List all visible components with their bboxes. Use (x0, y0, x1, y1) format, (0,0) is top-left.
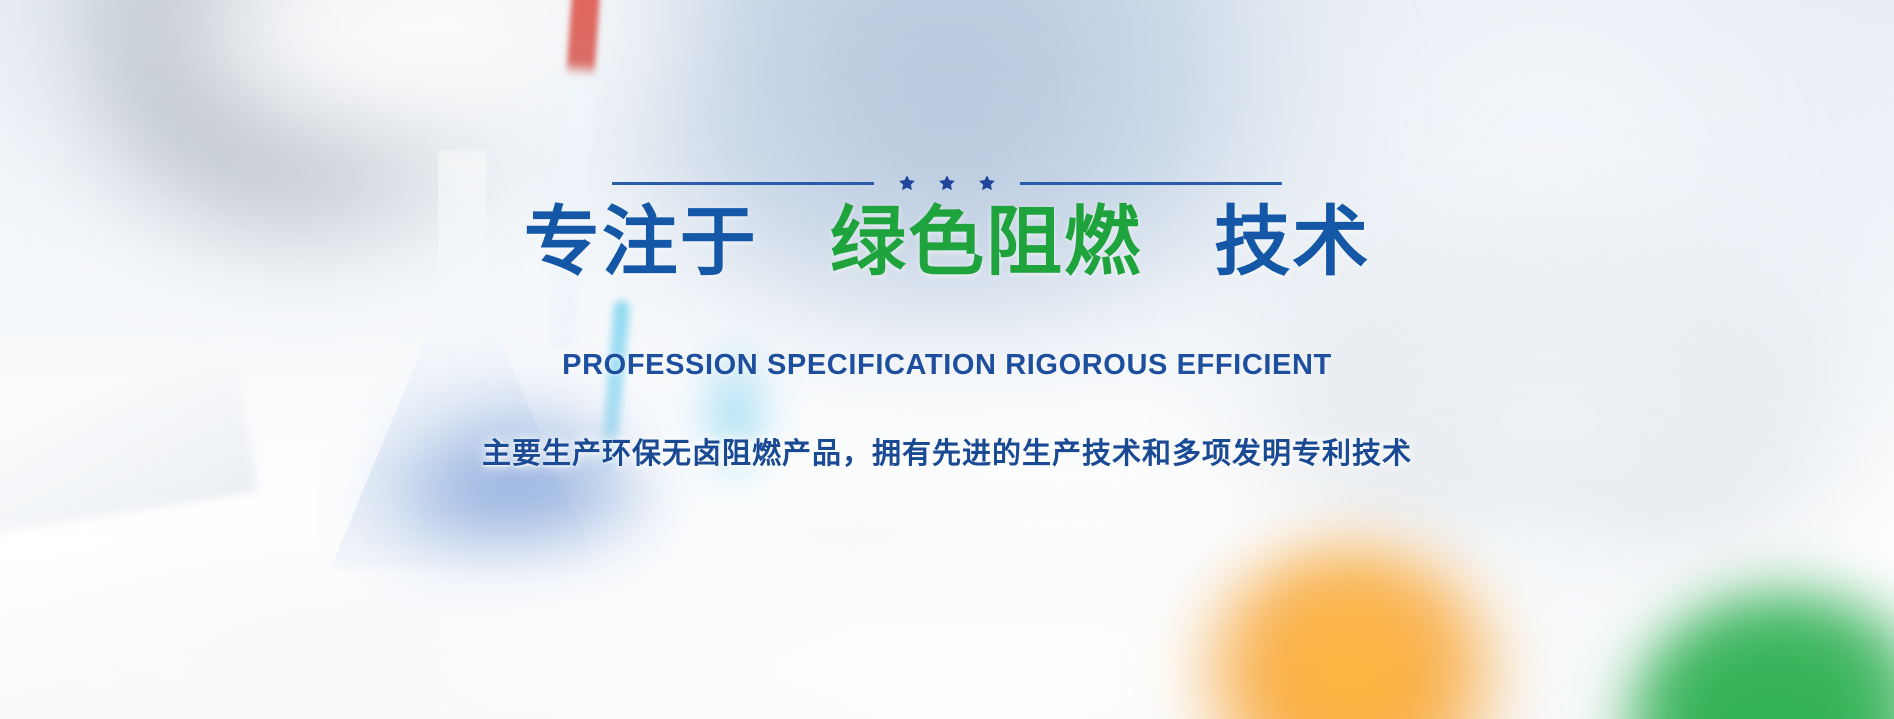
hero-banner: 专注于 绿色阻燃 技术 PROFESSION SPECIFICATION RIG… (0, 0, 1894, 719)
headline-part-1: 专注于 (524, 200, 758, 285)
star-icon (978, 174, 996, 192)
star-icon (938, 174, 956, 192)
banner-subtitle-english: PROFESSION SPECIFICATION RIGOROUS EFFICI… (562, 349, 1332, 382)
divider-line-right (1020, 182, 1282, 185)
divider-stars (874, 174, 1020, 192)
decorative-divider (612, 170, 1282, 196)
headline-part-2: 绿色阻燃 (830, 200, 1142, 285)
banner-content: 专注于 绿色阻燃 技术 PROFESSION SPECIFICATION RIG… (0, 0, 1894, 719)
headline-part-3: 技术 (1214, 200, 1370, 285)
star-icon (898, 174, 916, 192)
divider-line-left (612, 182, 874, 185)
banner-headline: 专注于 绿色阻燃 技术 (524, 202, 1371, 284)
banner-subtitle-chinese: 主要生产环保无卤阻燃产品，拥有先进的生产技术和多项发明专利技术 (482, 430, 1412, 472)
